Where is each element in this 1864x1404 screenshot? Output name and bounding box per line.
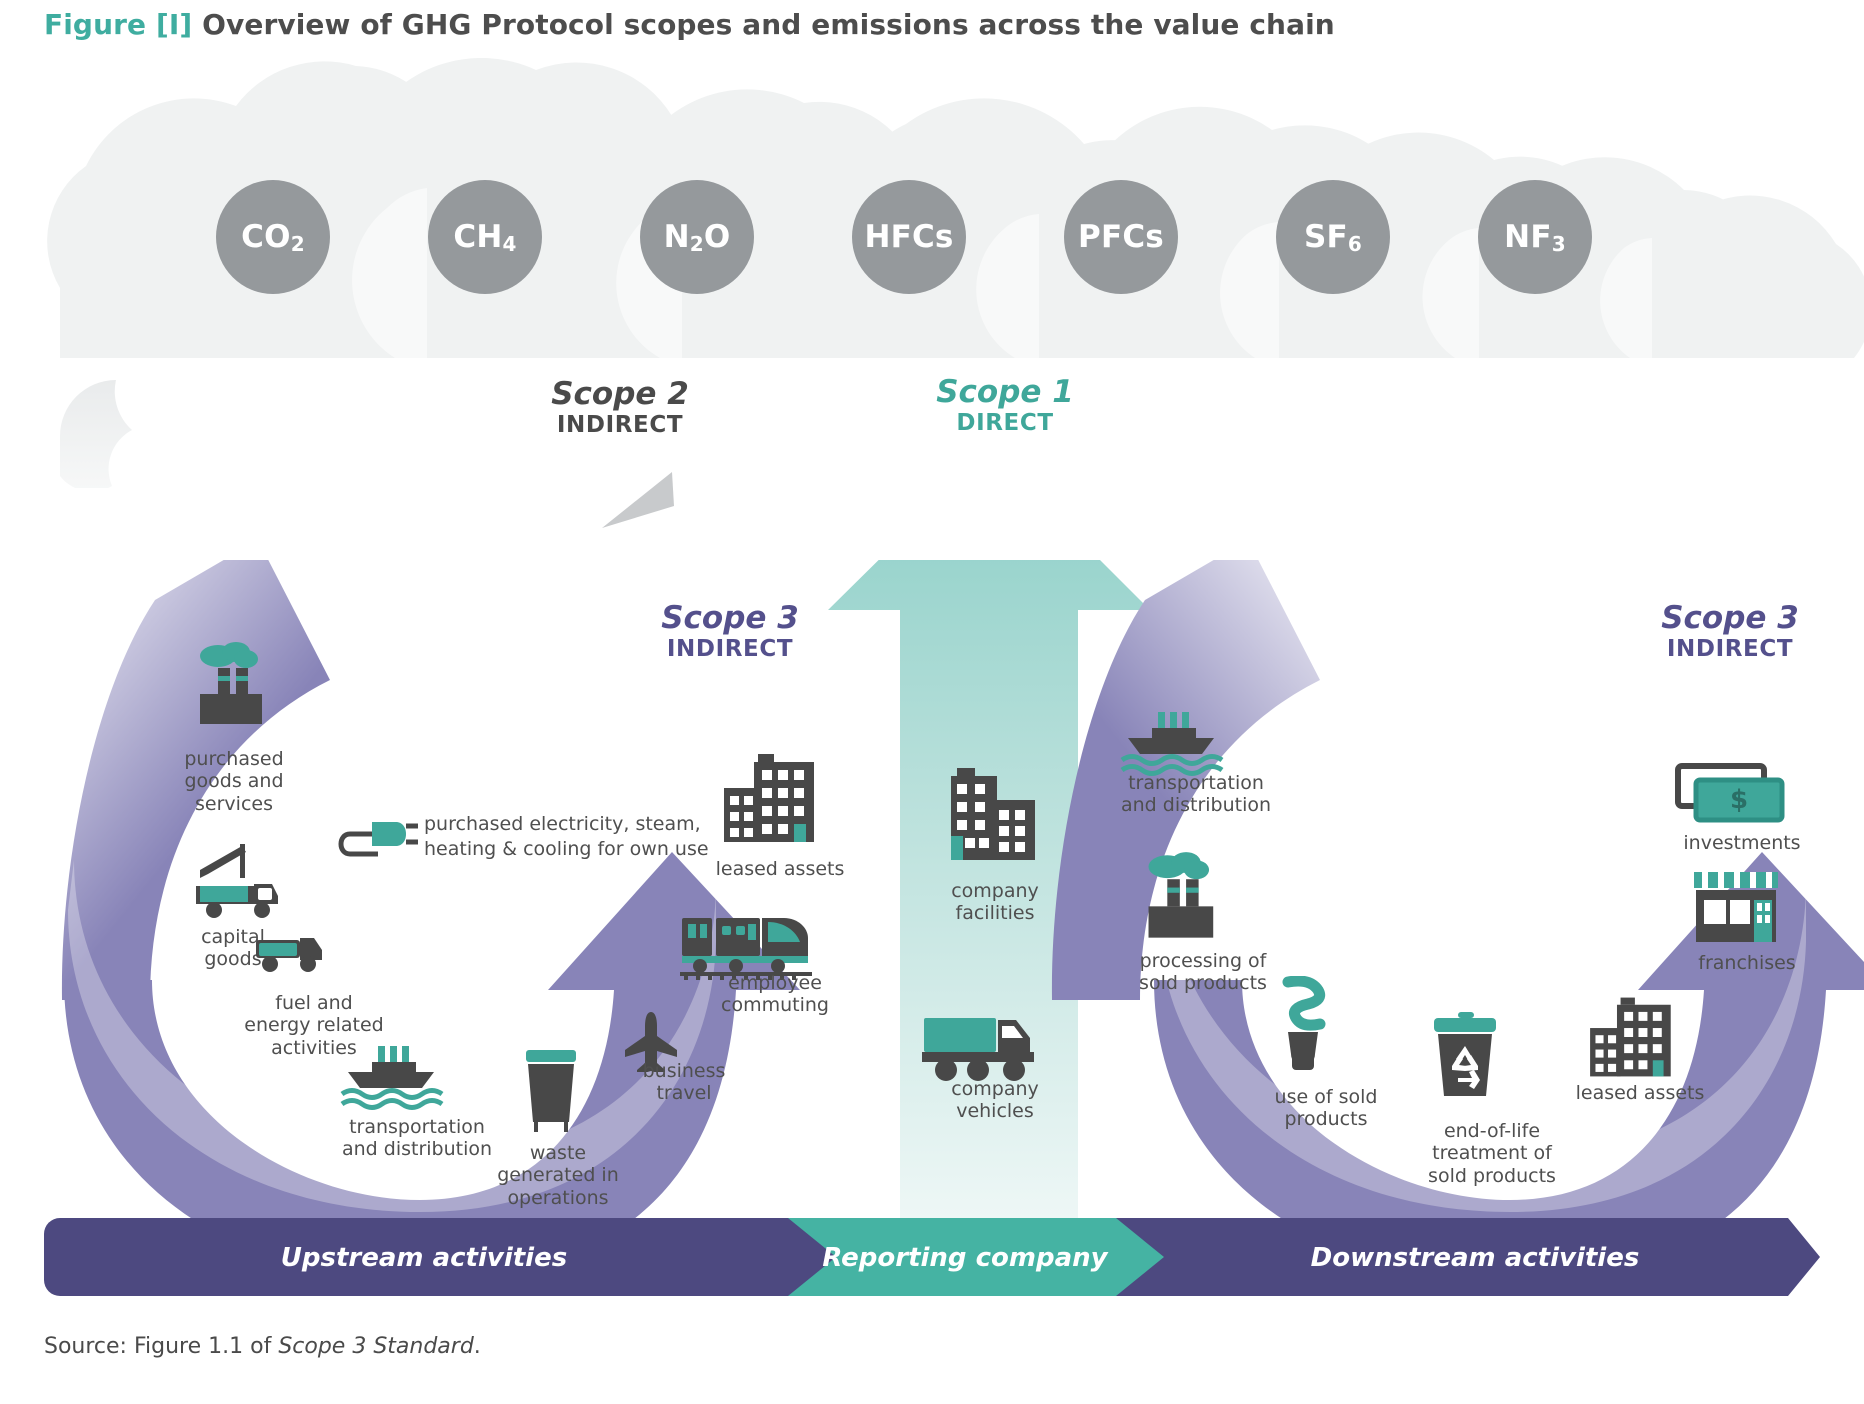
downstream-label-investments: investments [1652,832,1832,854]
gas-bubble-hfcs: HFCs [852,180,966,294]
banner-upstream-label: Upstream activities [44,1243,804,1273]
scope-1-name: Scope 1 [895,376,1115,409]
waste-bin-icon [512,1046,590,1138]
scope-2-label: Scope 2 INDIRECT [510,378,730,439]
crane-truck-icon [186,840,286,920]
train-icon [678,908,812,980]
scope2-note-label: purchased electricity, steam, heating & … [424,812,844,861]
downstream-label-leased-assets: leased assets [1540,1082,1740,1104]
downstream-label-end-of-life: end-of-life treatment of sold products [1392,1120,1592,1187]
svg-text:$: $ [1730,785,1748,815]
upstream-label-waste: waste generated in operations [478,1142,638,1209]
gas-bubble-sf6: SF6 [1276,180,1390,294]
page-title: Figure [I] Overview of GHG Protocol scop… [44,8,1744,58]
office-buildings-icon [935,766,1049,866]
factory-smokestack-icon [1136,850,1232,946]
cargo-ship-icon [338,1042,448,1116]
figure-number: Figure [I] [44,8,192,41]
figure-title-text: Overview of GHG Protocol scopes and emis… [202,8,1335,41]
cloud-wisp-icon [54,378,194,488]
scope-1-kind: DIRECT [895,409,1115,438]
source-note: Source: Figure 1.1 of Scope 3 Standard. [44,1334,481,1359]
gas-bubble-co2: CO2 [216,180,330,294]
upstream-label-business-travel: business travel [614,1060,754,1105]
gas-bubble-ch4: CH4 [428,180,542,294]
upstream-label-employee-commuting: employee commuting [690,972,860,1017]
upstream-label-purchased-goods: purchased goods and services [152,748,316,815]
figure-canvas: Figure [I] Overview of GHG Protocol scop… [0,0,1864,1404]
downstream-label-franchises: franchises [1672,952,1822,974]
gas-bubble-pfcs: PFCs [1064,180,1178,294]
source-suffix: . [474,1334,481,1359]
storefront-icon [1688,866,1784,950]
reporting-label-company-vehicles: company vehicles [920,1078,1070,1123]
scope-2-name: Scope 2 [510,378,730,411]
banner-reporting-label: Reporting company [790,1243,1140,1273]
scope-2-kind: INDIRECT [510,411,730,440]
gas-bubble-n2o: N2O [640,180,754,294]
money-icon: $ [1672,762,1790,826]
gas-bubble-nf3: NF3 [1478,180,1592,294]
downstream-label-transportation: transportation and distribution [1096,772,1296,817]
source-italic-title: Scope 3 Standard [278,1334,473,1359]
power-plug-icon [336,808,422,862]
office-buildings-icon [1584,994,1684,1080]
scope-1-label: Scope 1 DIRECT [895,376,1115,437]
fuel-truck-icon [250,918,326,976]
scope2-arrow-icon [600,470,680,530]
factory-smokestack-icon [188,640,280,732]
recycle-bin-icon [1424,1010,1506,1106]
cargo-ship-icon [1118,708,1228,782]
banner-downstream-label: Downstream activities [1130,1243,1820,1273]
delivery-truck-icon [920,1010,1040,1082]
reporting-label-company-facilities: company facilities [920,880,1070,925]
source-prefix: Source: Figure 1.1 of [44,1334,278,1359]
lightbulb-icon [1262,976,1344,1080]
downstream-label-use-of-sold: use of sold products [1246,1086,1406,1131]
